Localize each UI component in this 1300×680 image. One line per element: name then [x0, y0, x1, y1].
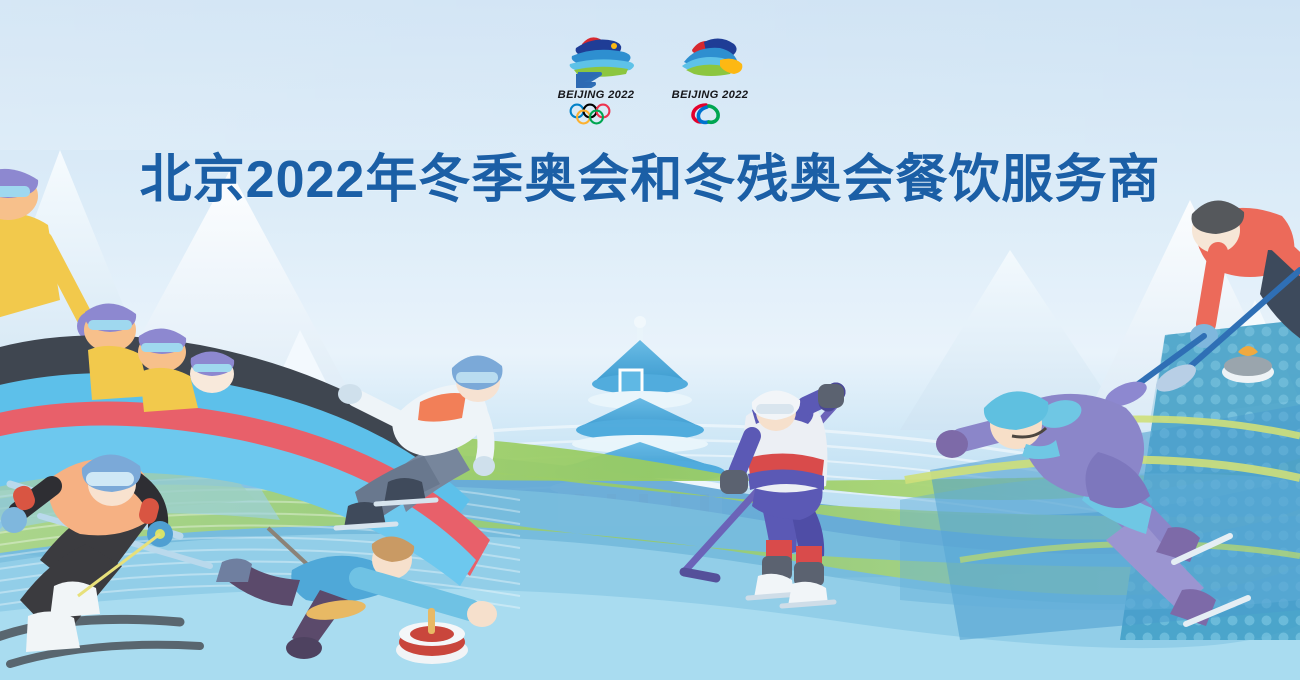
paralympic-emblem-icon	[662, 32, 758, 88]
paralympic-logo: BEIJING 2022	[662, 32, 758, 125]
page-title: 北京2022年冬季奥会和冬残奥会餐饮服务商	[0, 150, 1300, 210]
olympic-emblem-icon	[548, 32, 644, 88]
paralympic-agitos-icon	[687, 103, 733, 125]
beijing-2022-banner: BEIJING 2022 BEIJING 2022	[0, 0, 1300, 680]
olympic-logo: BEIJING 2022	[548, 32, 644, 125]
olympic-rings-icon	[566, 103, 626, 125]
olympic-wordmark: BEIJING 2022	[547, 89, 645, 101]
paralympic-wordmark: BEIJING 2022	[661, 89, 759, 101]
logo-row: BEIJING 2022 BEIJING 2022	[548, 32, 758, 136]
